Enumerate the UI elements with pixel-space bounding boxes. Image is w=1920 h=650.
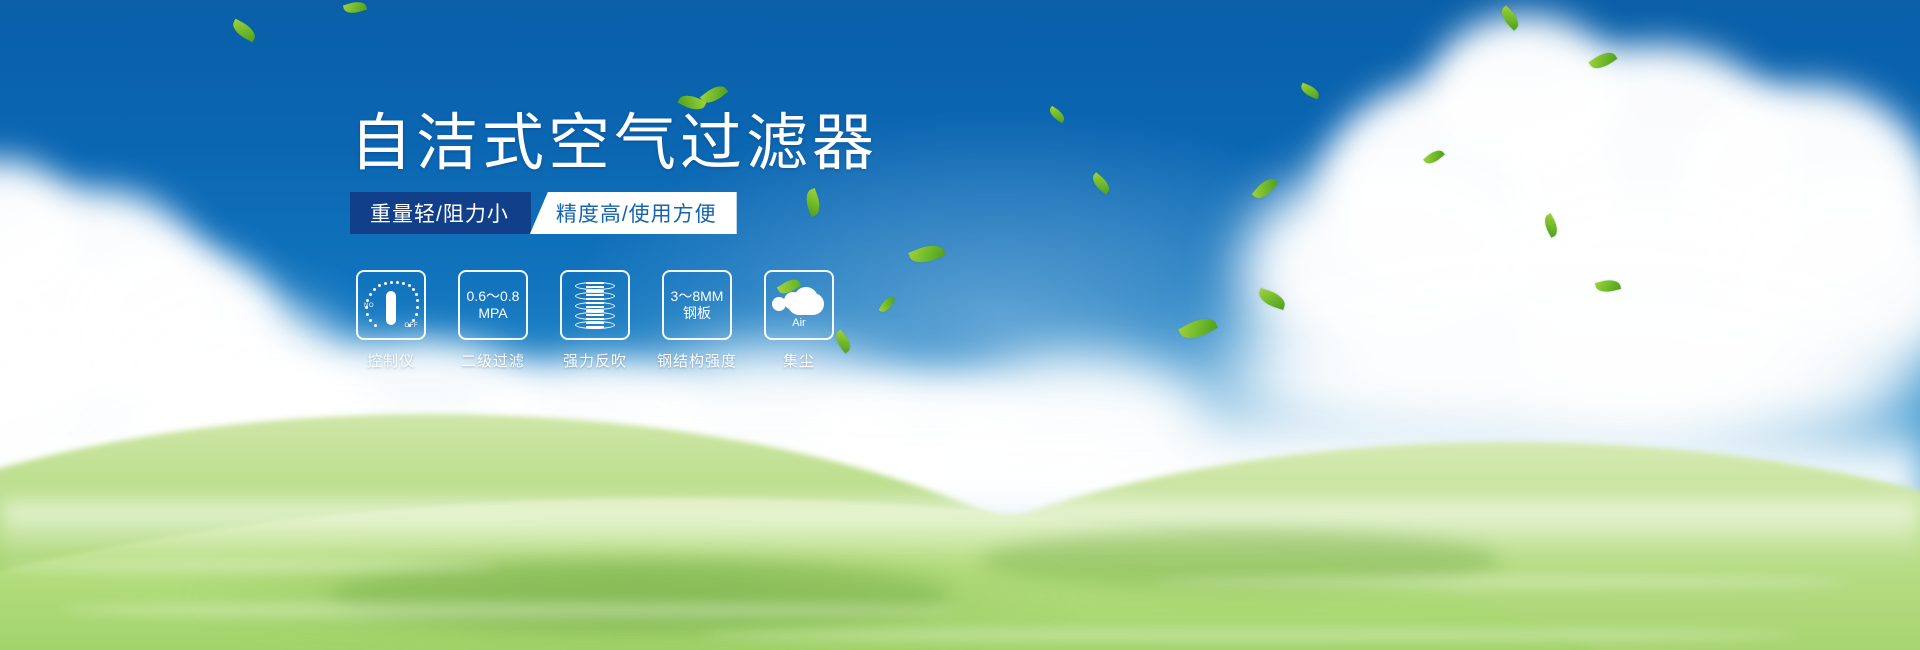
feature-item-steel[interactable]: 3～8MM 钢板 钢结构强度: [662, 270, 732, 371]
gauge-needle: [386, 291, 396, 325]
steel-value-line2: 钢板: [683, 305, 711, 322]
gauge-controller-icon: NO OFF: [356, 270, 426, 340]
product-banner: 自洁式空气过滤器 重量轻/阻力小 精度高/使用方便: [0, 0, 1920, 650]
page-title: 自洁式空气过滤器: [350, 108, 878, 180]
cloud-puff-small: [772, 297, 786, 311]
feature-item-dust[interactable]: Air 集尘: [764, 270, 834, 371]
feature-item-filtration[interactable]: 0.6～0.8 MPA 二级过滤: [458, 270, 528, 371]
pressure-value-line2: MPA: [478, 305, 507, 322]
feature-label-dust: 集尘: [783, 350, 815, 371]
cloud-puff-mid: [784, 292, 802, 310]
feature-label-steel: 钢结构强度: [657, 350, 737, 371]
cloud-shape: Air: [772, 283, 826, 327]
coil-stack: [574, 280, 616, 330]
feature-item-controller[interactable]: NO OFF 控制仪: [356, 270, 426, 371]
pressure-value-line1: 0.6～0.8: [467, 288, 520, 305]
subtitle-tag-primary: 重量轻/阻力小: [350, 192, 531, 234]
feature-icon-row: NO OFF 控制仪 0.6～0.8 MPA 二级过滤: [356, 270, 834, 371]
banner-content: 自洁式空气过滤器 重量轻/阻力小 精度高/使用方便: [0, 0, 1920, 650]
feature-label-controller: 控制仪: [367, 350, 415, 371]
subtitle-tag-secondary: 精度高/使用方便: [530, 192, 737, 234]
gauge-dial: NO OFF: [364, 279, 418, 331]
feature-label-backblow: 强力反吹: [563, 350, 627, 371]
subtitle-tag-group: 重量轻/阻力小 精度高/使用方便: [350, 192, 737, 234]
feature-item-backblow[interactable]: 强力反吹: [560, 270, 630, 371]
feature-label-filtration: 二级过滤: [461, 350, 525, 371]
steel-plate-text-icon: 3～8MM 钢板: [662, 270, 732, 340]
gauge-label-no: NO: [364, 303, 374, 309]
gauge-label-off: OFF: [405, 323, 419, 329]
air-label: Air: [772, 317, 826, 329]
pressure-text-icon: 0.6～0.8 MPA: [458, 270, 528, 340]
steel-value-line1: 3～8MM: [671, 288, 724, 305]
air-cloud-icon: Air: [764, 270, 834, 340]
filter-coil-icon: [560, 270, 630, 340]
